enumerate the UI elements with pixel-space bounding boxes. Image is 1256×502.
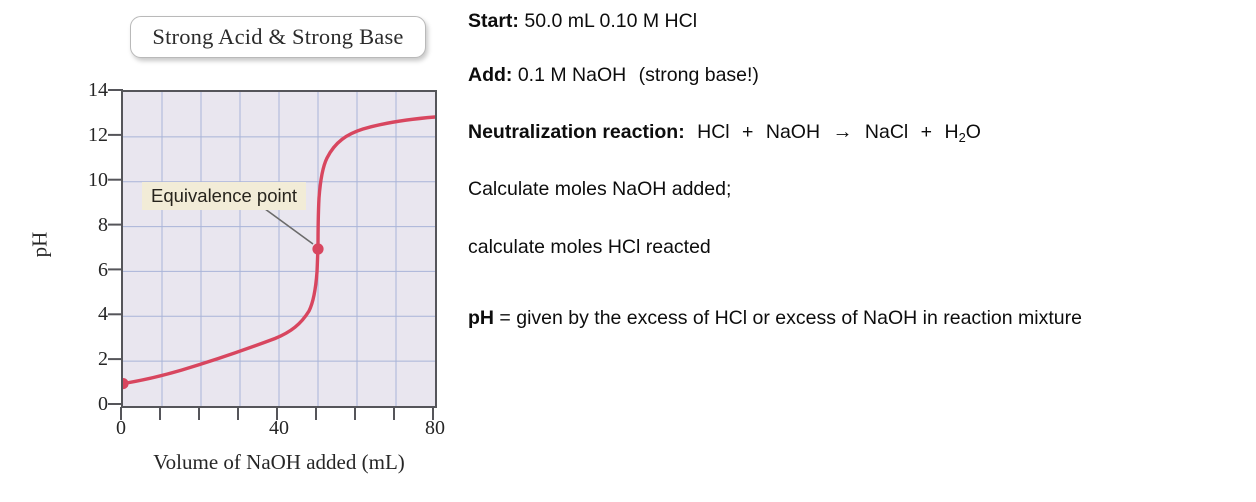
x-tick-80: 80 <box>405 417 465 440</box>
product-nacl: NaCl <box>865 121 908 143</box>
note-ph: pH = given by the excess of HCl or exces… <box>468 306 1082 330</box>
x-tick-0: 0 <box>91 417 151 440</box>
note-ph-value: = given by the excess of HCl or excess o… <box>499 307 1082 329</box>
note-start-value: 50.0 mL 0.10 M HCl <box>524 10 697 32</box>
note-add-label: Add: <box>468 64 512 86</box>
note-start: Start: 50.0 mL 0.10 M HCl <box>468 9 697 33</box>
product-water-o: O <box>966 121 981 143</box>
x-tick-40: 40 <box>249 417 309 440</box>
plus-sign-1: + <box>742 121 753 143</box>
note-ph-label: pH <box>468 307 494 329</box>
product-water-subscript: 2 <box>959 130 966 145</box>
note-add: Add: 0.1 M NaOH (strong base!) <box>468 63 759 87</box>
note-add-value: 0.1 M NaOH <box>518 64 626 86</box>
note-add-aside: (strong base!) <box>639 64 759 86</box>
plus-sign-2: + <box>921 121 932 143</box>
note-start-label: Start: <box>468 10 519 32</box>
note-neutralization: Neutralization reaction: HCl + NaOH → Na… <box>468 120 981 145</box>
product-water: H2O <box>944 121 980 143</box>
note-calculate-naoh: Calculate moles NaOH added; <box>468 177 731 201</box>
note-neutralization-label: Neutralization reaction: <box>468 121 685 143</box>
product-water-h: H <box>944 121 958 143</box>
reactant-hcl: HCl <box>697 121 730 143</box>
notes-panel: Start: 50.0 mL 0.10 M HCl Add: 0.1 M NaO… <box>468 0 1256 502</box>
x-axis-title: Volume of NaOH added (mL) <box>121 450 437 475</box>
x-axis-tick-labels: 0 40 80 <box>0 0 465 502</box>
reactant-naoh: NaOH <box>766 121 820 143</box>
note-calculate-hcl: calculate moles HCl reacted <box>468 235 711 259</box>
titration-figure: Strong Acid & Strong Base <box>0 0 465 502</box>
reaction-arrow-icon: → <box>832 121 852 143</box>
